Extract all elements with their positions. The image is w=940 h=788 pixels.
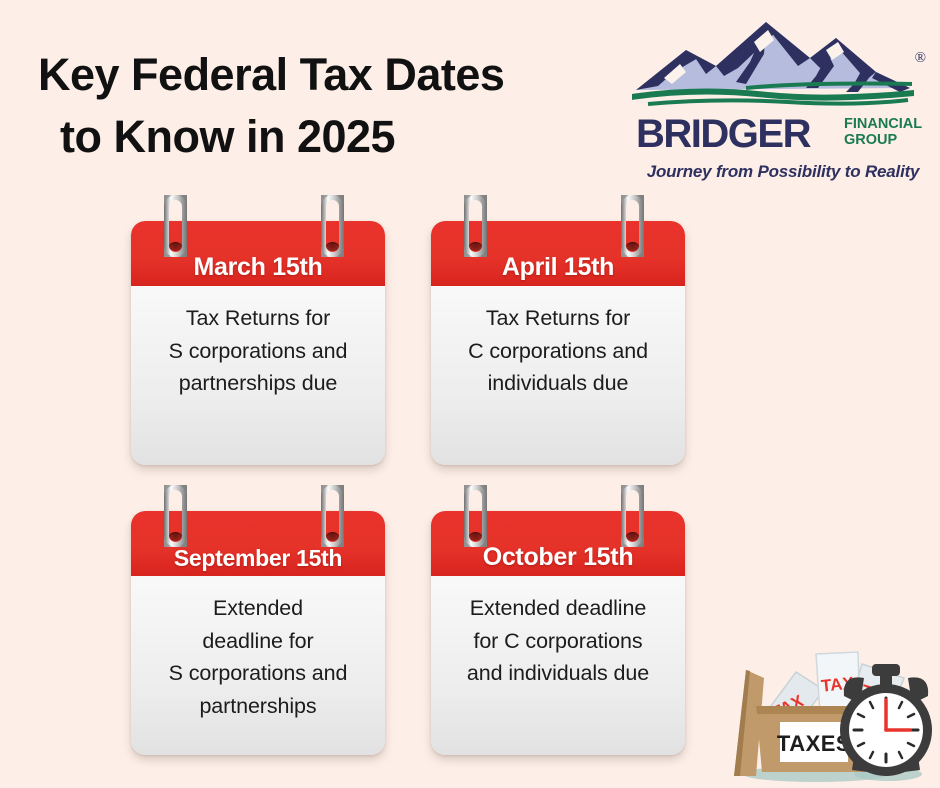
calendar-date-label: March 15th <box>131 253 385 282</box>
taxes-box-and-clock-illustration: TAX TAX TAX TAXES <box>712 634 934 784</box>
calendar-body-text: Extended deadline for S corporations and… <box>131 576 385 755</box>
calendar-body-text: Extended deadline for C corporations and… <box>431 576 685 755</box>
binder-ring-icon <box>464 485 487 547</box>
calendar-body-line: Tax Returns for <box>143 302 373 335</box>
calendar-body-line: individuals due <box>443 367 673 400</box>
calendar-date-label: April 15th <box>431 253 685 282</box>
calendar-body-line: Extended <box>143 592 373 625</box>
calendar-card: March 15th Tax Returns for S corporation… <box>131 221 385 465</box>
calendar-body-text: Tax Returns for S corporations and partn… <box>131 286 385 465</box>
binder-ring-icon <box>164 485 187 547</box>
calendar-body-line: partnerships <box>143 690 373 723</box>
calendar-sheet: April 15th Tax Returns for C corporation… <box>431 221 685 465</box>
calendar-sheet: September 15th Extended deadline for S c… <box>131 511 385 755</box>
calendar-body-line: and individuals due <box>443 657 673 690</box>
svg-text:TAXES: TAXES <box>777 731 851 756</box>
calendar-date-label: October 15th <box>431 543 685 572</box>
calendar-body-line: S corporations and <box>143 657 373 690</box>
binder-ring-icon <box>321 485 344 547</box>
calendar-sheet: October 15th Extended deadline for C cor… <box>431 511 685 755</box>
calendar-card: October 15th Extended deadline for C cor… <box>431 511 685 755</box>
binder-ring-icon <box>164 195 187 257</box>
calendar-body-line: for C corporations <box>443 625 673 658</box>
binder-ring-icon <box>321 195 344 257</box>
calendar-body-text: Tax Returns for C corporations and indiv… <box>431 286 685 465</box>
alarm-clock-icon <box>840 664 932 776</box>
binder-ring-icon <box>621 195 644 257</box>
binder-ring-icon <box>464 195 487 257</box>
calendar-body-line: Tax Returns for <box>443 302 673 335</box>
calendar-body-line: deadline for <box>143 625 373 658</box>
calendar-body-line: S corporations and <box>143 335 373 368</box>
calendar-card: April 15th Tax Returns for C corporation… <box>431 221 685 465</box>
calendar-body-line: Extended deadline <box>443 592 673 625</box>
calendar-sheet: March 15th Tax Returns for S corporation… <box>131 221 385 465</box>
calendar-card: September 15th Extended deadline for S c… <box>131 511 385 755</box>
calendar-body-line: partnerships due <box>143 367 373 400</box>
calendar-date-label: September 15th <box>131 545 385 572</box>
calendar-body-line: C corporations and <box>443 335 673 368</box>
binder-ring-icon <box>621 485 644 547</box>
